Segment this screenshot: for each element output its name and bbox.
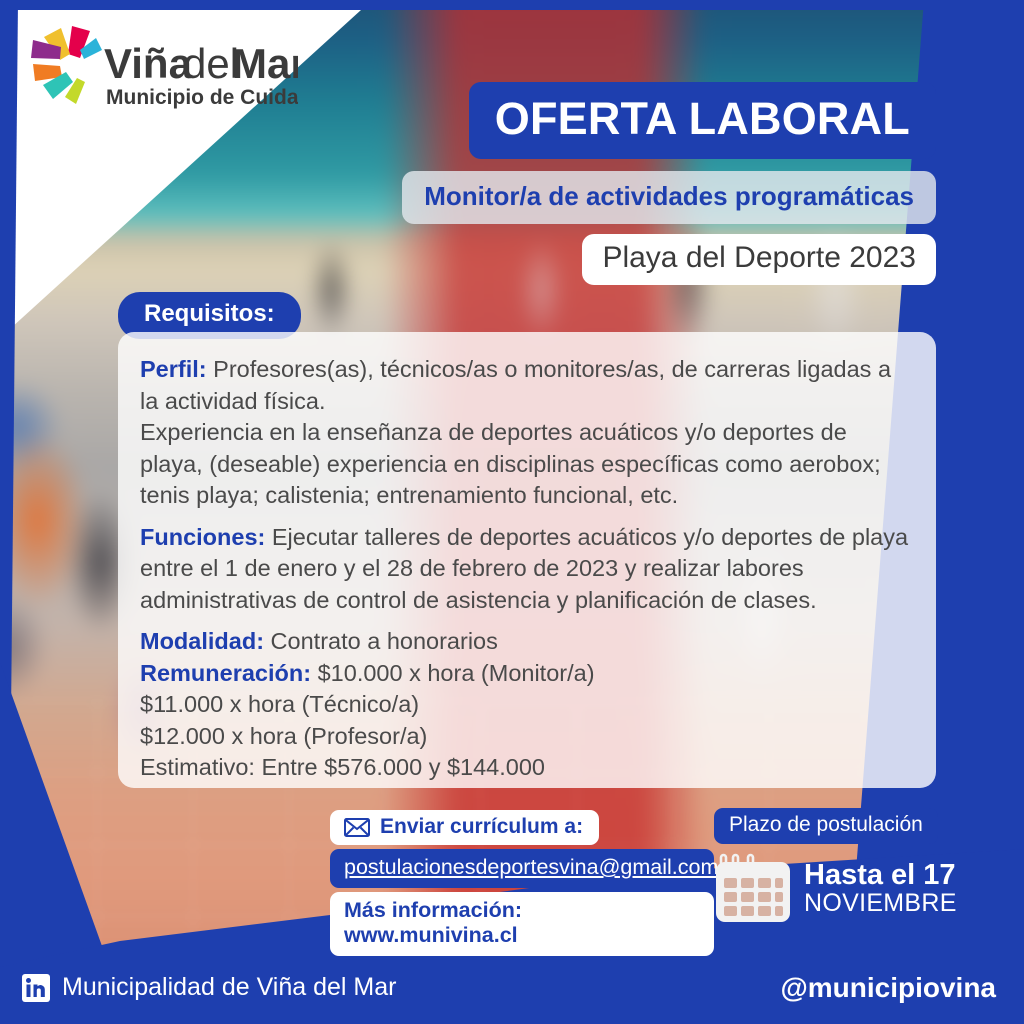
linkedin-icon[interactable] [22, 974, 50, 1002]
email-link[interactable]: postulacionesdeportesvina@gmail.com [330, 849, 714, 888]
svg-text:Mar: Mar [232, 40, 298, 87]
header-title-block: OFERTA LABORAL Monitor/a de actividades … [402, 82, 936, 285]
requirement-block: Estimativo: Entre $576.000 y $144.000 [140, 752, 910, 784]
requirement-block: Remuneración: $10.000 x hora (Monitor/a) [140, 658, 910, 690]
top-blue-edge [0, 0, 1024, 10]
requirement-text: Estimativo: Entre $576.000 y $144.000 [140, 754, 545, 780]
requirement-text: $10.000 x hora (Monitor/a) [311, 660, 594, 686]
page-title: OFERTA LABORAL [469, 82, 936, 159]
more-info-label[interactable]: Más información: www.munivina.cl [330, 892, 714, 956]
requirement-block: Experiencia en la enseñanza de deportes … [140, 417, 910, 512]
requirement-label: Modalidad: [140, 628, 264, 654]
svg-text:Municipio de Cuidados: Municipio de Cuidados [106, 86, 298, 109]
svg-text:del: del [183, 40, 239, 87]
requirement-label: Remuneración: [140, 660, 311, 686]
requirement-text: Contrato a honorarios [264, 628, 498, 654]
requirement-label: Perfil: [140, 356, 207, 382]
job-offer-poster: Viña del Mar Municipio de Cuidados OFERT… [0, 0, 1024, 1024]
requirement-block: $12.000 x hora (Profesor/a) [140, 721, 910, 753]
deadline-block: Plazo de postulación [714, 808, 964, 924]
requirement-block: $11.000 x hora (Técnico/a) [140, 689, 910, 721]
pinwheel-icon [31, 26, 102, 104]
requirement-block: Modalidad: Contrato a honorarios [140, 626, 910, 658]
requirement-block: Perfil: Profesores(as), técnicos/as o mo… [140, 354, 910, 417]
svg-text:Viña: Viña [104, 40, 193, 87]
event-name: Playa del Deporte 2023 [582, 234, 936, 285]
envelope-icon [344, 818, 370, 837]
footer-linkedin-block[interactable]: Municipalidad de Viña del Mar [22, 973, 396, 1002]
requirement-text: Profesores(as), técnicos/as o monitores/… [140, 356, 891, 414]
requirement-block: Funciones: Ejecutar talleres de deportes… [140, 522, 910, 617]
contact-block: Enviar currículum a: postulacionesdeport… [330, 810, 714, 956]
vina-del-mar-logo: Viña del Mar Municipio de Cuidados [18, 16, 298, 118]
page-subtitle: Monitor/a de actividades programáticas [402, 171, 936, 224]
requirements-card: Perfil: Profesores(as), técnicos/as o mo… [118, 332, 936, 788]
send-cv-label: Enviar currículum a: [380, 815, 583, 839]
requirement-text: $12.000 x hora (Profesor/a) [140, 723, 427, 749]
requirement-text: Experiencia en la enseñanza de deportes … [140, 419, 881, 508]
send-cv-label-row: Enviar currículum a: [330, 810, 599, 845]
footer-page-name: Municipalidad de Viña del Mar [62, 973, 396, 1002]
deadline-badge: Plazo de postulación [714, 808, 938, 844]
requirement-text: $11.000 x hora (Técnico/a) [140, 691, 419, 717]
calendar-icon [714, 852, 792, 924]
deadline-body: Hasta el 17 NOVIEMBRE [714, 852, 964, 924]
footer-social-handle[interactable]: @municipiovina [780, 972, 996, 1004]
deadline-date: Hasta el 17 [804, 860, 957, 890]
deadline-text: Hasta el 17 NOVIEMBRE [804, 860, 957, 916]
requirement-label: Funciones: [140, 524, 265, 550]
deadline-month: NOVIEMBRE [804, 890, 957, 916]
